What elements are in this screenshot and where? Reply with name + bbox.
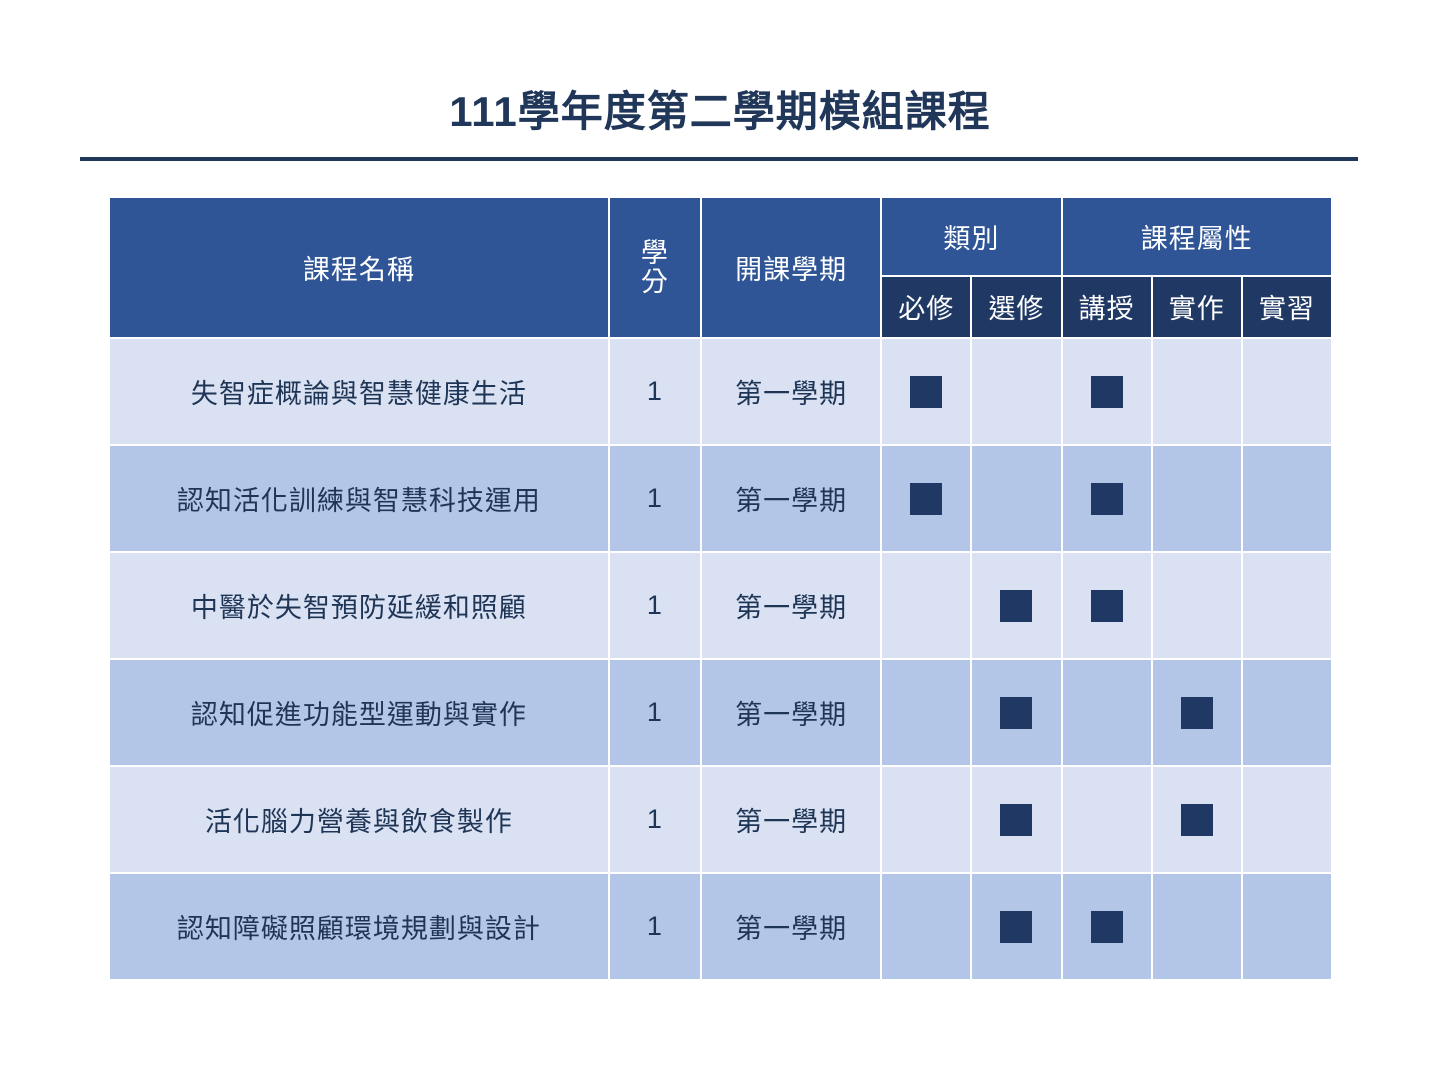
cell-semester: 第一學期 [702, 874, 880, 979]
cell-course-name: 活化腦力營養與飲食製作 [110, 767, 608, 872]
header-group-attribute: 課程屬性 [1063, 198, 1331, 275]
course-table: 課程名稱 學 分 開課學期 類別 課程屬性 必修 選修 講授 實作 實習 [108, 196, 1333, 981]
checked-square-icon [1181, 804, 1213, 836]
table-body: 失智症概論與智慧健康生活1第一學期認知活化訓練與智慧科技運用1第一學期中醫於失智… [110, 339, 1331, 979]
mark-required-cell [882, 660, 970, 765]
title-divider [80, 157, 1358, 161]
table-head: 課程名稱 學 分 開課學期 類別 課程屬性 必修 選修 講授 實作 實習 [110, 198, 1331, 337]
mark-practice-cell [1153, 553, 1241, 658]
course-table-wrapper: 課程名稱 學 分 開課學期 類別 課程屬性 必修 選修 講授 實作 實習 [108, 196, 1333, 981]
table-row: 失智症概論與智慧健康生活1第一學期 [110, 339, 1331, 444]
checked-square-icon [1091, 376, 1123, 408]
mark-elective-cell [972, 553, 1060, 658]
mark-required-cell [882, 874, 970, 979]
mark-lecture-cell [1063, 446, 1151, 551]
mark-elective-cell [972, 446, 1060, 551]
cell-semester: 第一學期 [702, 553, 880, 658]
mark-required-cell [882, 339, 970, 444]
mark-lecture-cell [1063, 339, 1151, 444]
table-row: 認知活化訓練與智慧科技運用1第一學期 [110, 446, 1331, 551]
header-credit-char2: 分 [610, 268, 700, 296]
mark-internship-cell [1243, 553, 1331, 658]
checked-square-icon [1000, 590, 1032, 622]
checked-square-icon [910, 376, 942, 408]
checked-square-icon [1000, 911, 1032, 943]
table-row: 認知障礙照顧環境規劃與設計1第一學期 [110, 874, 1331, 979]
mark-required-cell [882, 767, 970, 872]
mark-required-cell [882, 553, 970, 658]
header-credit-char1: 學 [610, 239, 700, 267]
mark-internship-cell [1243, 339, 1331, 444]
mark-lecture-cell [1063, 767, 1151, 872]
mark-practice-cell [1153, 339, 1241, 444]
checked-square-icon [1000, 697, 1032, 729]
checked-square-icon [1000, 804, 1032, 836]
cell-semester: 第一學期 [702, 767, 880, 872]
header-sub-practice: 實作 [1153, 277, 1241, 337]
cell-course-name: 認知活化訓練與智慧科技運用 [110, 446, 608, 551]
page-title: 111學年度第二學期模組課程 [0, 88, 1440, 136]
checked-square-icon [1091, 911, 1123, 943]
cell-semester: 第一學期 [702, 339, 880, 444]
mark-internship-cell [1243, 767, 1331, 872]
cell-credit: 1 [610, 767, 700, 872]
checked-square-icon [1091, 590, 1123, 622]
checked-square-icon [1181, 697, 1213, 729]
mark-practice-cell [1153, 660, 1241, 765]
header-course-name: 課程名稱 [110, 198, 608, 337]
cell-course-name: 失智症概論與智慧健康生活 [110, 339, 608, 444]
mark-practice-cell [1153, 446, 1241, 551]
cell-course-name: 中醫於失智預防延緩和照顧 [110, 553, 608, 658]
checked-square-icon [1091, 483, 1123, 515]
cell-credit: 1 [610, 874, 700, 979]
mark-lecture-cell [1063, 874, 1151, 979]
table-row: 認知促進功能型運動與實作1第一學期 [110, 660, 1331, 765]
header-sub-required: 必修 [882, 277, 970, 337]
mark-elective-cell [972, 874, 1060, 979]
cell-credit: 1 [610, 339, 700, 444]
mark-elective-cell [972, 767, 1060, 872]
mark-internship-cell [1243, 874, 1331, 979]
checked-square-icon [910, 483, 942, 515]
mark-required-cell [882, 446, 970, 551]
cell-semester: 第一學期 [702, 660, 880, 765]
header-semester: 開課學期 [702, 198, 880, 337]
mark-elective-cell [972, 660, 1060, 765]
header-row-top: 課程名稱 學 分 開課學期 類別 課程屬性 [110, 198, 1331, 275]
mark-internship-cell [1243, 446, 1331, 551]
cell-credit: 1 [610, 446, 700, 551]
cell-course-name: 認知促進功能型運動與實作 [110, 660, 608, 765]
header-sub-lecture: 講授 [1063, 277, 1151, 337]
cell-credit: 1 [610, 553, 700, 658]
mark-practice-cell [1153, 767, 1241, 872]
table-row: 活化腦力營養與飲食製作1第一學期 [110, 767, 1331, 872]
mark-internship-cell [1243, 660, 1331, 765]
header-credit: 學 分 [610, 198, 700, 337]
mark-lecture-cell [1063, 553, 1151, 658]
header-sub-elective: 選修 [972, 277, 1060, 337]
title-block: 111學年度第二學期模組課程 [0, 88, 1440, 136]
header-sub-internship: 實習 [1243, 277, 1331, 337]
mark-lecture-cell [1063, 660, 1151, 765]
mark-practice-cell [1153, 874, 1241, 979]
cell-credit: 1 [610, 660, 700, 765]
cell-course-name: 認知障礙照顧環境規劃與設計 [110, 874, 608, 979]
mark-elective-cell [972, 339, 1060, 444]
cell-semester: 第一學期 [702, 446, 880, 551]
table-row: 中醫於失智預防延緩和照顧1第一學期 [110, 553, 1331, 658]
header-group-category: 類別 [882, 198, 1060, 275]
slide-root: 111學年度第二學期模組課程 課程名稱 學 分 開課學期 類別 課程屬性 [0, 0, 1440, 1080]
